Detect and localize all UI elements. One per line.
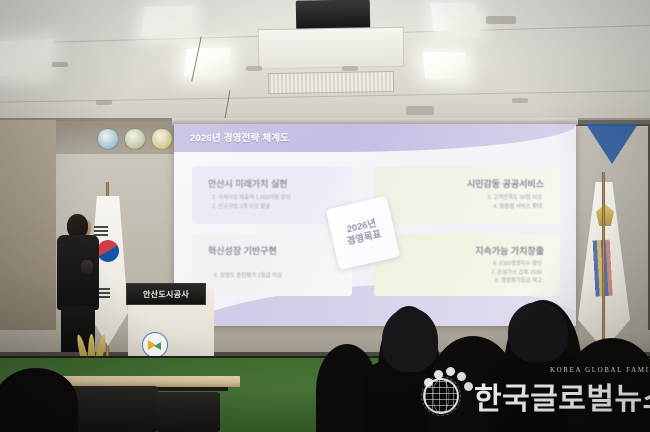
- podium-logo-icon: [142, 332, 168, 358]
- presentation-slide: 2026년 경영전략 체계도 안산시 미래가치 실현 1. 자체사업 매출액 1…: [174, 124, 576, 326]
- news-photograph: 2026년 경영전략 체계도 안산시 미래가치 실현 1. 자체사업 매출액 1…: [0, 0, 650, 432]
- ceiling-fixture: [486, 16, 516, 24]
- panel-light: [141, 5, 194, 37]
- strategy-quadrant-bottom-left: 혁신성장 기반구현 5. 청렴도 종합평가 2등급 이상: [192, 234, 352, 296]
- person-dot: [446, 367, 455, 376]
- air-conditioner-vent: [268, 71, 394, 94]
- ceiling-fixture: [406, 106, 434, 115]
- person-dot: [457, 372, 466, 381]
- speaker-hand: [81, 260, 93, 274]
- panel-light: [0, 39, 54, 77]
- quadrant-item: 3. 고객만족도 90점 이상: [487, 194, 542, 203]
- black-chair: [156, 392, 220, 432]
- panel-light: [423, 51, 467, 79]
- watermark-english-text: KOREA GLOBAL FAMILY NEWS: [550, 366, 650, 374]
- strategy-quadrant-top-right: 시민감동 공공서비스 3. 고객만족도 90점 이상 4. 맞춤형 서비스 확대: [374, 166, 560, 224]
- black-chair: [68, 386, 158, 432]
- quadrant-items: 6. ESG경영지수 향상 7. 온실가스 감축 2030 8. 경영평가등급 …: [491, 260, 542, 286]
- quadrant-items: 3. 고객만족도 90점 이상 4. 맞춤형 서비스 확대: [487, 194, 542, 211]
- globe-meridian: [433, 378, 449, 414]
- panel-light: [183, 47, 230, 77]
- wall-emblem: [124, 128, 146, 150]
- corporate-ceremonial-flag: [578, 182, 630, 350]
- news-watermark: KOREA GLOBAL FAMILY NEWS 한국글로벌뉴스: [418, 360, 646, 424]
- quadrant-item: 1. 자체사업 매출액 1,000억원 달성: [212, 194, 291, 203]
- globe-people-icon: [418, 366, 470, 418]
- venue-name-sign: 안산도시공사: [126, 283, 206, 305]
- quadrant-title: 시민감동 공공서비스: [467, 177, 544, 190]
- quadrant-item: 8. 경영평가등급 제고: [491, 277, 542, 286]
- quadrant-item: 5. 청렴도 종합평가 2등급 이상: [214, 272, 282, 281]
- projection-screen: 2026년 경영전략 체계도 안산시 미래가치 실현 1. 자체사업 매출액 1…: [174, 124, 576, 326]
- quadrant-item: 4. 맞춤형 서비스 확대: [487, 203, 542, 212]
- quadrant-title: 안산시 미래가치 실현: [208, 177, 288, 190]
- slide-title: 2026년 경영전략 체계도: [190, 130, 289, 144]
- wall-emblem: [97, 128, 119, 150]
- ceiling-fixture: [96, 100, 112, 105]
- ceiling-fixture: [512, 98, 528, 103]
- wall-emblem: [151, 128, 173, 150]
- speaker-body: [57, 235, 99, 310]
- speaker-presenter: [55, 214, 101, 346]
- quadrant-title: 혁신성장 기반구현: [208, 244, 277, 257]
- quadrant-item: 6. ESG경영지수 향상: [491, 260, 542, 269]
- quadrant-items: 1. 자체사업 매출액 1,000억원 달성 2. 신규사업 3개 이상 발굴: [212, 194, 291, 211]
- person-dot: [464, 382, 473, 391]
- quadrant-items: 5. 청렴도 종합평가 2등급 이상: [214, 272, 282, 281]
- ceiling-fixture: [342, 66, 358, 71]
- watermark-korean-text: 한국글로벌뉴스: [474, 374, 650, 418]
- panel-light: [430, 2, 479, 33]
- flag-emblem-band: [587, 239, 624, 297]
- strategy-quadrant-bottom-right: 지속가능 가치창출 6. ESG경영지수 향상 7. 온실가스 감축 2030 …: [374, 234, 560, 296]
- quadrant-item: 2. 신규사업 3개 이상 발굴: [212, 203, 291, 212]
- venue-name-text: 안산도시공사: [143, 289, 189, 300]
- audience-hair: [508, 302, 568, 362]
- air-conditioner-housing: [258, 27, 405, 70]
- logo-right-wedge: [154, 342, 161, 350]
- wall-blue-decoration: [586, 124, 638, 164]
- flag-pole: [602, 172, 605, 350]
- quadrant-title: 지속가능 가치창출: [475, 244, 544, 257]
- ceiling: [0, 0, 650, 128]
- quadrant-item: 7. 온실가스 감축 2030: [491, 269, 542, 278]
- ceiling-fixture: [52, 62, 68, 67]
- ceiling-fixture: [246, 66, 262, 71]
